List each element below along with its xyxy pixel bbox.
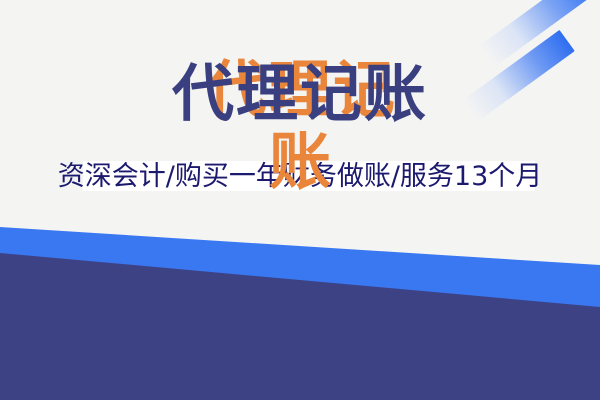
headline-container: 代理记账 代理记账 xyxy=(0,58,600,130)
headline-main-layer: 代理记账 xyxy=(172,58,428,130)
banner-headline: 代理记账 代理记账 xyxy=(172,58,428,130)
promo-banner: 代理记账 代理记账 资深会计/购买一年财务做账/服务13个月 xyxy=(0,0,600,400)
